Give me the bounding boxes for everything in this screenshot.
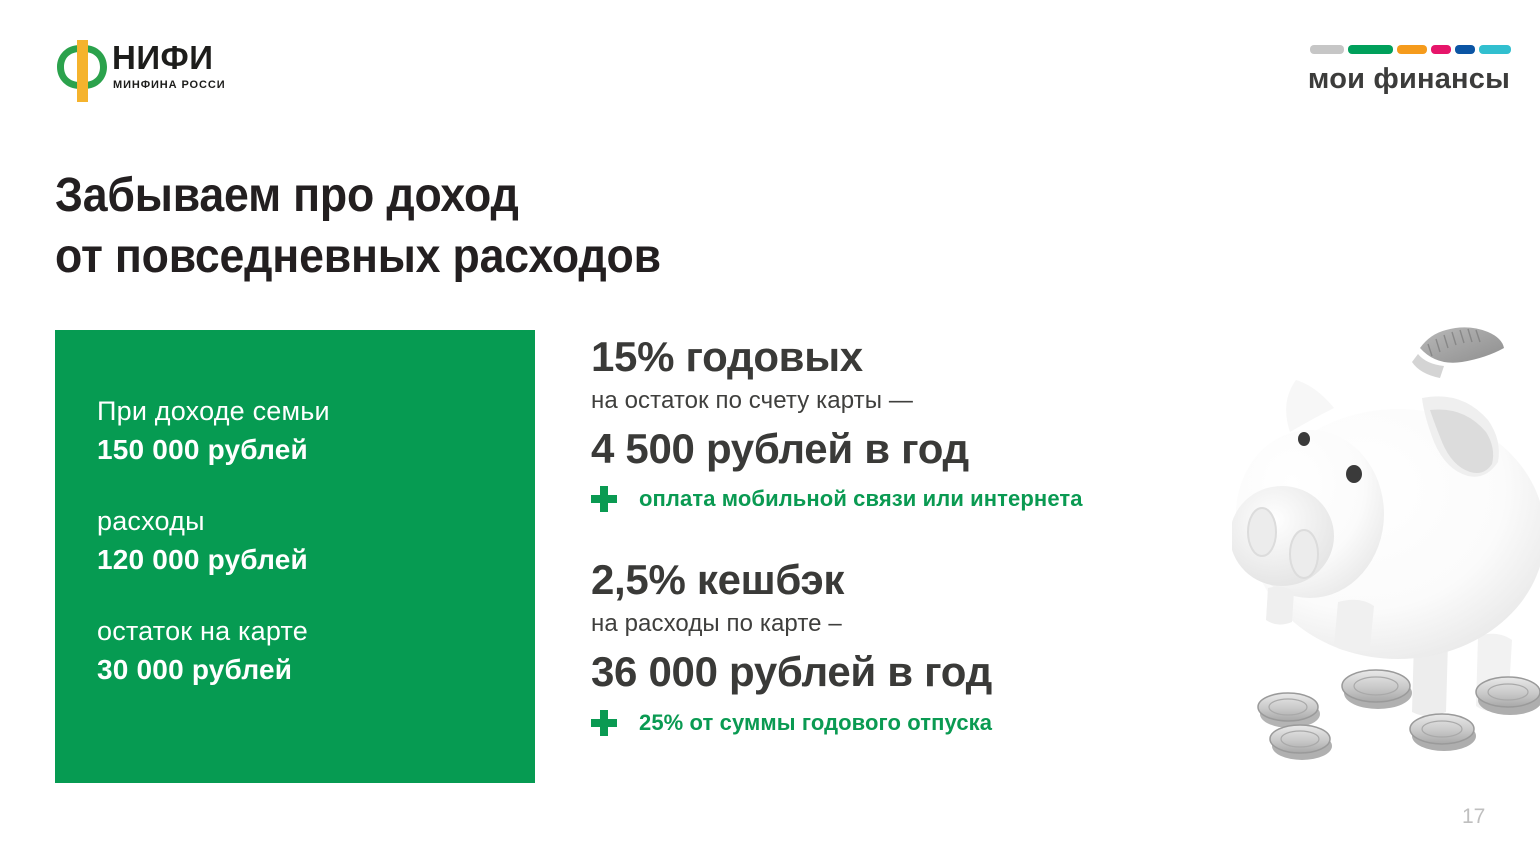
benefit-bonus-text: 25% от суммы годового отпуска — [639, 710, 992, 736]
budget-group: При доходе семьи150 000 рублей — [97, 392, 535, 470]
moi-finansy-color-bar-3 — [1397, 45, 1427, 54]
budget-group-label: остаток на карте — [97, 612, 535, 650]
benefit-bonus-text: оплата мобильной связи или интернета — [639, 486, 1083, 512]
benefit-amount: 36 000 рублей в год — [591, 647, 1231, 697]
benefit-bonus-row: оплата мобильной связи или интернета — [591, 486, 1231, 512]
budget-group-value: 150 000 рублей — [97, 430, 535, 470]
budget-group: расходы120 000 рублей — [97, 502, 535, 580]
moi-finansy-color-bar-6 — [1479, 45, 1511, 54]
plus-icon — [591, 486, 617, 512]
benefit-block: 15% годовыхна остаток по счету карты —4 … — [591, 333, 1231, 512]
page-title: Забываем про доход от повседневных расхо… — [55, 166, 948, 288]
nifi-logo-wordmark: НИФИ — [112, 41, 213, 74]
benefit-description: на расходы по карте – — [591, 607, 1231, 642]
moi-finansy-color-bar-1 — [1310, 45, 1344, 54]
nifi-logo: НИФИ МИНФИНА РОССИИ — [55, 40, 285, 102]
benefit-rate: 15% годовых — [591, 333, 1231, 381]
moi-finansy-color-bar-2 — [1348, 45, 1393, 54]
benefits-column: 15% годовыхна остаток по счету карты —4 … — [591, 333, 1231, 736]
benefit-rate: 2,5% кешбэк — [591, 556, 1231, 604]
moi-finansy-color-bar-5 — [1455, 45, 1475, 54]
benefit-block: 2,5% кешбэкна расходы по карте –36 000 р… — [591, 556, 1231, 735]
nifi-logo-mark-icon — [55, 40, 113, 102]
benefit-bonus-row: 25% от суммы годового отпуска — [591, 710, 1231, 736]
page-title-line-1: Забываем про доход — [55, 166, 948, 227]
plus-icon — [591, 710, 617, 736]
budget-group: остаток на карте30 000 рублей — [97, 612, 535, 690]
slide-root: НИФИ МИНФИНА РОССИИ мои финансы Забываем… — [0, 0, 1540, 864]
budget-group-value: 120 000 рублей — [97, 540, 535, 580]
budget-group-label: При доходе семьи — [97, 392, 535, 430]
page-number: 17 — [1462, 806, 1485, 827]
benefit-description: на остаток по счету карты — — [591, 384, 1231, 419]
budget-group-label: расходы — [97, 502, 535, 540]
nifi-logo-subtitle: МИНФИНА РОССИИ — [113, 80, 225, 91]
benefit-amount: 4 500 рублей в год — [591, 424, 1231, 474]
moi-finansy-logo: мои финансы — [1303, 45, 1515, 107]
moi-finansy-color-bar-4 — [1431, 45, 1451, 54]
family-budget-panel: При доходе семьи150 000 рублейрасходы120… — [55, 330, 535, 783]
piggy-bank-illustration — [1232, 318, 1540, 790]
moi-finansy-color-bars-icon — [1310, 45, 1511, 54]
moi-finansy-wordmark: мои финансы — [1303, 64, 1515, 94]
page-title-line-2: от повседневных расходов — [55, 227, 948, 288]
budget-group-value: 30 000 рублей — [97, 650, 535, 690]
